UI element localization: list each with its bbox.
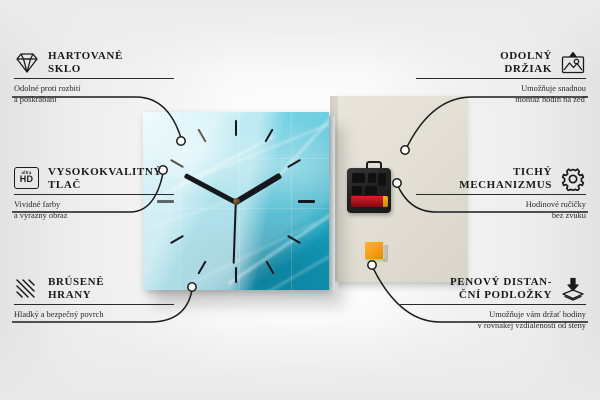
feature-desc-line-2: a výrazný obraz: [14, 211, 174, 222]
gear-icon: [560, 167, 586, 191]
feature-desc-line-1: Hodinové ručičky: [416, 200, 586, 211]
feature-divider: [14, 78, 174, 79]
feature-desc-line-1: Hladký a bezpečný povrch: [14, 310, 174, 321]
feature-title-2: ČNÍ PODLOŽKY: [450, 289, 552, 302]
feature-callout-ground-edges: BRÚSENÉ HRANY Hladký a bezpečný povrch: [14, 276, 174, 321]
connector-endpoint-left-3: [188, 283, 196, 291]
feature-callout-silent-mechanism: TICHÝ MECHANIZMUS Hodinové ručičky bez z…: [416, 166, 586, 221]
feature-divider: [416, 78, 586, 79]
feature-callout-foam-spacers: PENOVÝ DISTAN- ČNÍ PODLOŽKY Umožňuje vám…: [400, 276, 586, 331]
feature-title: ODOLNÝ: [500, 50, 552, 63]
feature-title-2: TLAČ: [48, 179, 162, 192]
feature-title-2: SKLO: [48, 63, 123, 76]
feature-desc-line-1: Odolné proti rozbití: [14, 84, 174, 95]
connector-line-right-1: [404, 97, 588, 153]
feature-desc-line-2: bez zvuku: [416, 211, 586, 222]
feature-title: PENOVÝ DISTAN-: [450, 276, 552, 289]
feature-title-2: MECHANIZMUS: [459, 179, 552, 192]
feature-desc-line-2: a poškrábání: [14, 95, 174, 106]
feature-callout-hq-print: ultra HD VYSOKOKVALITNÝ TLAČ Vividné far…: [14, 166, 174, 221]
feature-desc-line-2: montáž hodin na zeď: [416, 95, 586, 106]
feature-title-2: HRANY: [48, 289, 104, 302]
feature-callout-hardened-glass: HARTOVANÉ SKLO Odolné proti rozbití a po…: [14, 50, 174, 105]
feature-desc-line-1: Umožňuje snadnou: [416, 84, 586, 95]
ultra-hd-badge-icon: ultra HD: [14, 167, 40, 191]
feature-desc-line-1: Vividné farby: [14, 200, 174, 211]
connector-endpoint-left-1: [177, 137, 185, 145]
connector-endpoint-right-2: [393, 179, 401, 187]
infographic-stage: HARTOVANÉ SKLO Odolné proti rozbití a po…: [0, 0, 600, 400]
feature-title: BRÚSENÉ: [48, 276, 104, 289]
feature-title: TICHÝ: [459, 166, 552, 179]
feature-divider: [400, 304, 586, 305]
feature-divider: [14, 194, 174, 195]
feature-title-2: DRŽIAK: [500, 63, 552, 76]
feature-desc-line-2: v rovnakej vzdialenosti od steny: [400, 321, 586, 332]
connector-endpoint-right-1: [401, 146, 409, 154]
feature-title: HARTOVANÉ: [48, 50, 123, 63]
feature-callout-durable-hanger: ODOLNÝ DRŽIAK Umožňuje snadnou montáž ho…: [416, 50, 586, 105]
feature-title: VYSOKOKVALITNÝ: [48, 166, 162, 179]
press-layers-icon: [560, 277, 586, 301]
diamond-icon: [14, 51, 40, 75]
feature-desc-line-1: Umožňuje vám držať hodiny: [400, 310, 586, 321]
ultra-hd-badge-main: HD: [20, 175, 33, 184]
ground-edges-icon: [14, 277, 40, 301]
feature-divider: [14, 304, 174, 305]
feature-divider: [416, 194, 586, 195]
connector-endpoint-right-3: [368, 261, 376, 269]
wall-hanger-icon: [560, 51, 586, 75]
